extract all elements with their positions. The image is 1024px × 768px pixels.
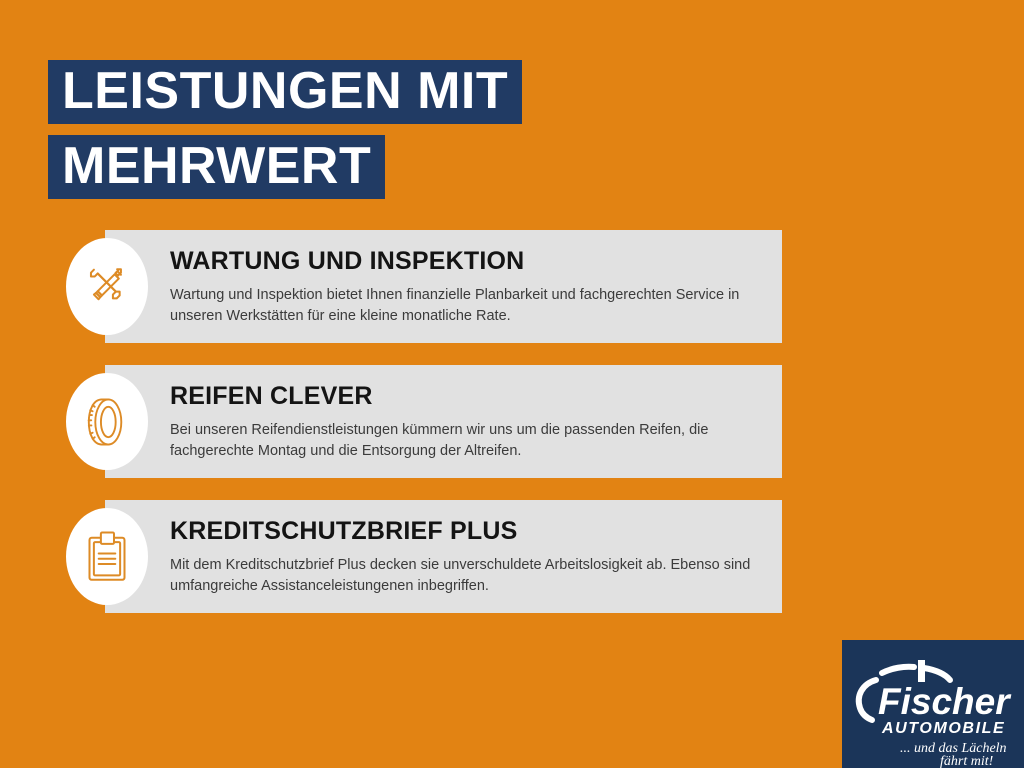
clipboard-icon xyxy=(82,529,132,585)
card-text-block: REIFEN CLEVER Bei unseren Reifendienstle… xyxy=(170,365,770,478)
card-title: KREDITSCHUTZBRIEF PLUS xyxy=(170,517,770,546)
wrench-screwdriver-icon xyxy=(80,260,134,314)
card-title: WARTUNG UND INSPEKTION xyxy=(170,247,770,276)
card-description: Mit dem Kreditschutzbrief Plus decken si… xyxy=(170,555,770,597)
page-headline: LEISTUNGEN MIT MEHRWERT xyxy=(48,60,522,210)
logo-subtitle-text: AUTOMOBILE xyxy=(881,720,1005,737)
card-title: REIFEN CLEVER xyxy=(170,382,770,411)
card-icon-badge xyxy=(66,238,148,335)
card-description: Bei unseren Reifendienstleistungen kümme… xyxy=(170,420,770,462)
tire-icon xyxy=(81,394,133,450)
service-card[interactable]: WARTUNG UND INSPEKTION Wartung und Inspe… xyxy=(0,230,1024,343)
card-description: Wartung und Inspektion bietet Ihnen fina… xyxy=(170,285,770,327)
logo-tagline-line-2: fährt mit! xyxy=(940,754,994,768)
company-logo: Fischer AUTOMOBILE ... und das Lächeln f… xyxy=(842,640,1024,768)
card-icon-badge xyxy=(66,508,148,605)
card-icon-badge xyxy=(66,373,148,470)
headline-line-1: LEISTUNGEN MIT xyxy=(48,60,522,124)
service-card-list: WARTUNG UND INSPEKTION Wartung und Inspe… xyxy=(0,230,1024,635)
service-card[interactable]: KREDITSCHUTZBRIEF PLUS Mit dem Kreditsch… xyxy=(0,500,1024,613)
headline-line-2: MEHRWERT xyxy=(48,135,385,199)
card-text-block: WARTUNG UND INSPEKTION Wartung und Inspe… xyxy=(170,230,770,343)
card-text-block: KREDITSCHUTZBRIEF PLUS Mit dem Kreditsch… xyxy=(170,500,770,613)
logo-brand-text: Fischer xyxy=(878,681,1012,722)
service-card[interactable]: REIFEN CLEVER Bei unseren Reifendienstle… xyxy=(0,365,1024,478)
